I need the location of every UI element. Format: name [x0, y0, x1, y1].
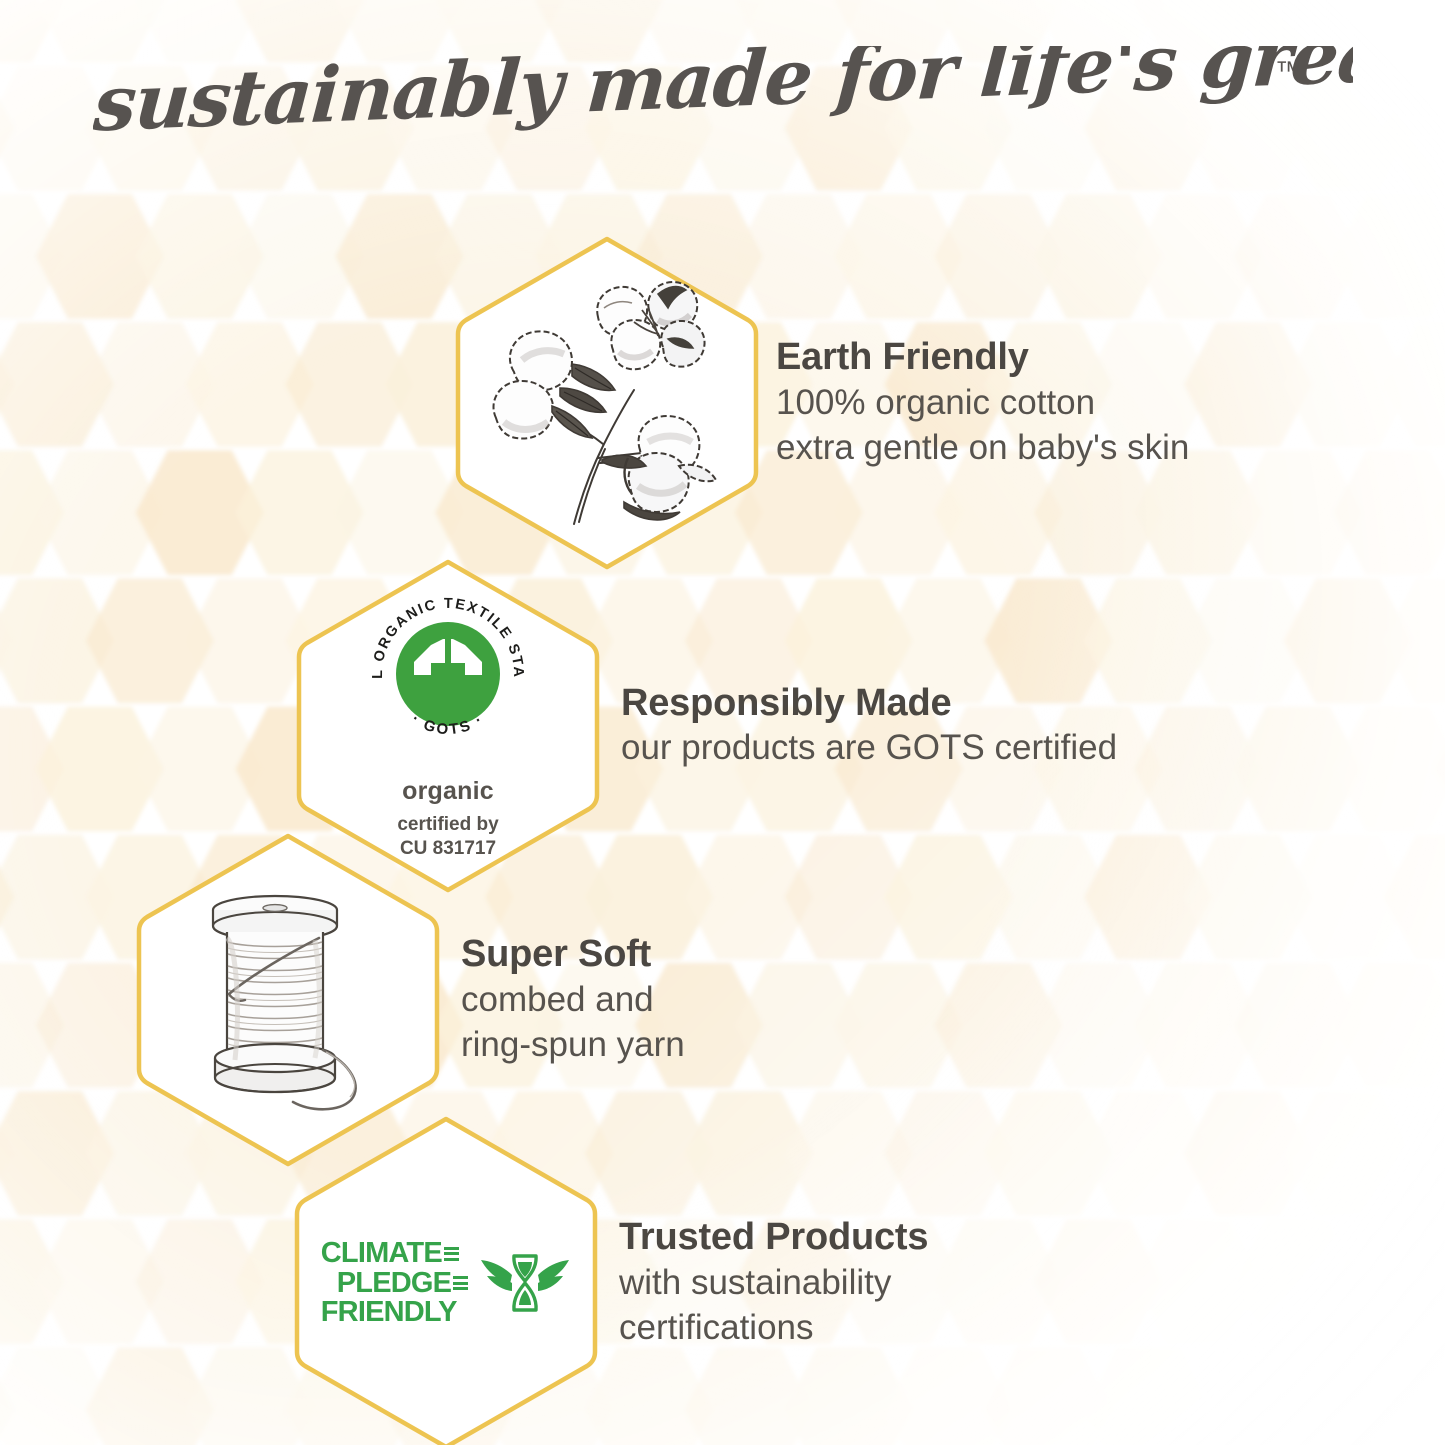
climate-pledge-friendly-logo: CLIMATE PLEDGE FRIENDLY [321, 1239, 571, 1326]
feature-line: with sustainability [619, 1260, 1291, 1306]
winged-hourglass-icon [479, 1247, 571, 1319]
feature-line: ring-spun yarn [461, 1022, 1033, 1068]
svg-text:sustainably made for life's gr: sustainably made for life's greatest joy [93, 46, 1353, 148]
cpf-line-1: CLIMATE [321, 1239, 442, 1267]
cpf-bars-icon [444, 1242, 459, 1265]
feature-trusted-products: CLIMATE PLEDGE FRIENDLY [291, 1113, 1291, 1445]
feature-line: 100% organic cotton [776, 380, 1352, 426]
thread-spool-icon [183, 882, 393, 1118]
page-title: sustainably made for life's greatest joy… [0, 46, 1445, 166]
hexagon-tile-cotton [452, 233, 762, 573]
cpf-bars-icon [453, 1272, 468, 1295]
cotton-branch-icon [482, 272, 732, 534]
feature-copy-earth-friendly: Earth Friendly 100% organic cotton extra… [762, 335, 1352, 470]
gots-certification-logo: GLOBAL ORGANIC TEXTILE STANDARD · GOTS ·… [357, 583, 539, 862]
feature-copy-super-soft: Super Soft combed and ring-spun yarn [443, 932, 1033, 1067]
feature-title: Super Soft [461, 932, 1033, 976]
climate-pledge-wordmark: CLIMATE PLEDGE FRIENDLY [321, 1239, 468, 1326]
feature-copy-responsibly-made: Responsibly Made our products are GOTS c… [603, 681, 1293, 771]
feature-title: Responsibly Made [621, 681, 1293, 725]
feature-line: combed and [461, 977, 1033, 1023]
cpf-line-3: FRIENDLY [321, 1298, 457, 1326]
feature-line: our products are GOTS certified [621, 725, 1293, 771]
gots-organic-label: organic [402, 777, 494, 806]
feature-earth-friendly: Earth Friendly 100% organic cotton extra… [452, 233, 1352, 573]
feature-line: extra gentle on baby's skin [776, 425, 1352, 471]
hexagon-tile-climate-pledge: CLIMATE PLEDGE FRIENDLY [291, 1113, 601, 1445]
feature-title: Trusted Products [619, 1215, 1291, 1259]
svg-text:™: ™ [1275, 56, 1302, 86]
infographic-canvas: sustainably made for life's greatest joy… [0, 0, 1445, 1445]
feature-title: Earth Friendly [776, 335, 1352, 379]
cpf-line-2: PLEDGE [337, 1269, 451, 1297]
feature-copy-trusted-products: Trusted Products with sustainability cer… [601, 1215, 1291, 1350]
feature-line: certifications [619, 1305, 1291, 1351]
